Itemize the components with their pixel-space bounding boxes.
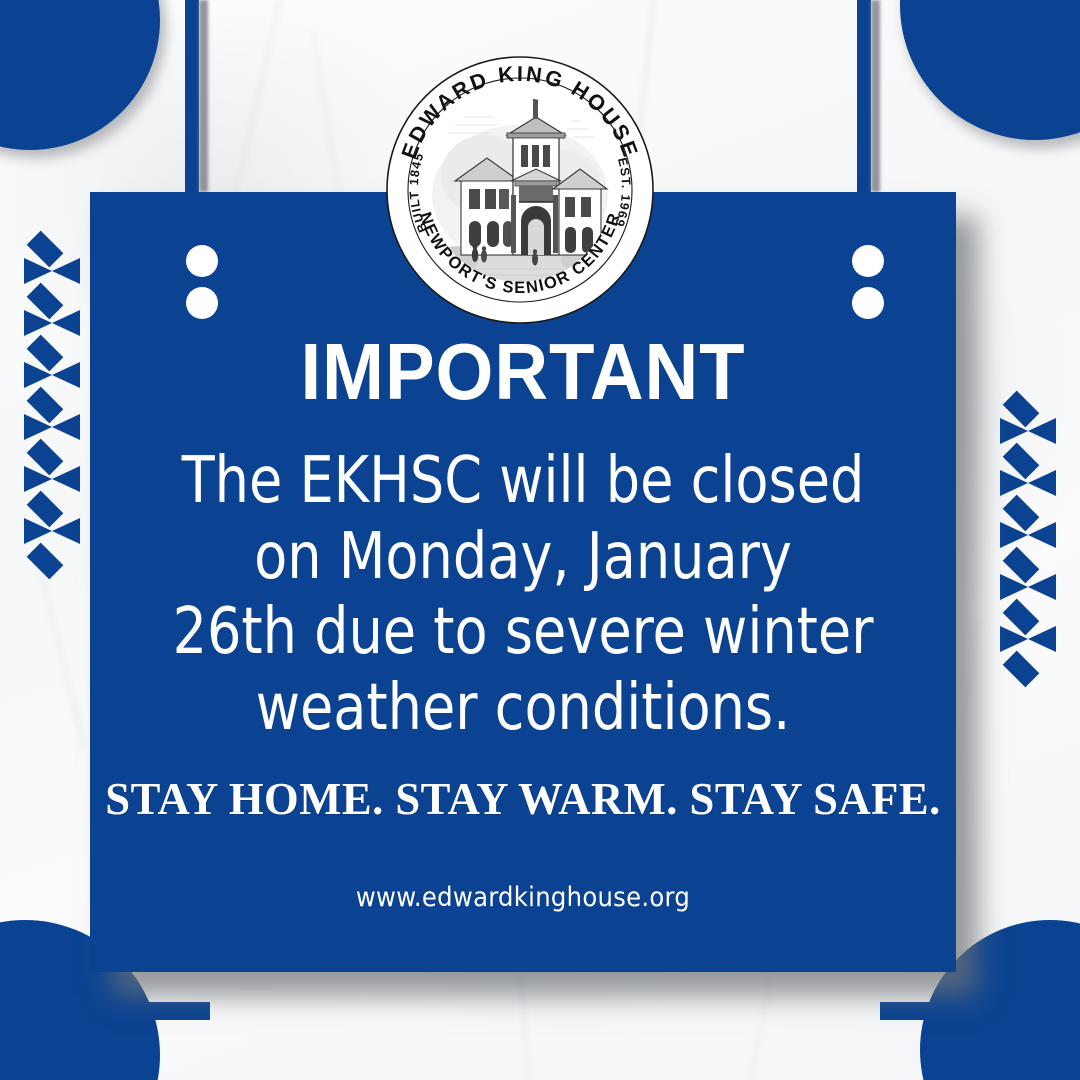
bowtie-triangle-left xyxy=(24,414,52,440)
bowtie-unit xyxy=(24,284,80,311)
bowtie-unit xyxy=(1000,496,1056,523)
closure-message: The EKHSC will be closed on Monday, Janu… xyxy=(116,444,930,746)
bowtie-triangle-left xyxy=(1000,574,1028,600)
bowtie-triangle-right xyxy=(1028,574,1056,600)
closure-message-line: weather conditions. xyxy=(148,671,898,747)
bowtie-unit xyxy=(1000,444,1056,471)
bowtie-unit xyxy=(1000,470,1056,497)
bowtie-triangle-left xyxy=(24,310,52,336)
bowtie-unit xyxy=(24,440,80,467)
bowtie-triangle-left xyxy=(1000,470,1028,496)
bowtie-unit xyxy=(1000,626,1056,653)
decorative-dot xyxy=(186,245,218,277)
closure-message-line: on Monday, January xyxy=(148,520,898,596)
bowtie-unit xyxy=(24,466,80,493)
bowtie-triangle-right xyxy=(52,466,80,492)
decorative-dot xyxy=(852,245,884,277)
bowtie-triangle-right xyxy=(52,414,80,440)
background-bar-left xyxy=(185,0,199,192)
corner-circle-top-left xyxy=(0,0,160,150)
bowtie-unit xyxy=(24,232,80,259)
bowtie-unit xyxy=(1000,392,1056,419)
website-url[interactable]: www.edwardkinghouse.org xyxy=(90,882,956,913)
bowtie-unit xyxy=(1000,522,1056,549)
bowtie-triangle-right xyxy=(1028,470,1056,496)
bowtie-triangle-right xyxy=(52,258,80,284)
bowtie-triangle-left xyxy=(24,362,52,388)
decorative-dot xyxy=(852,287,884,319)
bowtie-triangle-left xyxy=(24,518,52,544)
decorative-dot xyxy=(186,287,218,319)
bowtie-unit xyxy=(24,310,80,337)
bowtie-triangle-right xyxy=(1028,522,1056,548)
background-bar-right xyxy=(857,0,871,192)
bowtie-unit xyxy=(1000,652,1056,679)
bowtie-triangle-right xyxy=(52,310,80,336)
marble-vein xyxy=(37,562,86,747)
bowtie-triangle-right xyxy=(1028,418,1056,444)
bowtie-unit xyxy=(24,414,80,441)
bowtie-triangle-left xyxy=(1000,522,1028,548)
bowtie-ornament-left xyxy=(24,232,80,570)
marble-vein xyxy=(749,961,774,1080)
bowtie-unit xyxy=(24,544,80,571)
bowtie-unit xyxy=(1000,548,1056,575)
background-bar-bottom-right xyxy=(880,1002,1080,1020)
bowtie-triangle-right xyxy=(52,362,80,388)
closure-message-line: 26th due to severe winter xyxy=(148,595,898,671)
bowtie-unit xyxy=(24,336,80,363)
bowtie-unit xyxy=(24,362,80,389)
bowtie-unit xyxy=(24,258,80,285)
corner-circle-top-right xyxy=(900,0,1080,140)
bowtie-triangle-left xyxy=(24,466,52,492)
bowtie-unit xyxy=(24,518,80,545)
closure-message-line: The EKHSC will be closed xyxy=(148,444,898,520)
bowtie-unit xyxy=(1000,574,1056,601)
bowtie-diamond xyxy=(27,543,64,580)
safety-tagline: STAY HOME. STAY WARM. STAY SAFE. xyxy=(103,772,943,825)
bowtie-diamond xyxy=(1003,651,1040,688)
bowtie-triangle-right xyxy=(1028,626,1056,652)
bowtie-unit xyxy=(1000,600,1056,627)
bowtie-triangle-left xyxy=(1000,418,1028,444)
edward-king-house-seal-logo: EDWARD KING HOUSE NEWPORT'S SENIOR CENTE… xyxy=(385,55,655,325)
bowtie-unit xyxy=(1000,418,1056,445)
announcement-poster: IMPORTANT The EKHSC will be closed on Mo… xyxy=(0,0,1080,1080)
bowtie-triangle-left xyxy=(24,258,52,284)
bowtie-triangle-left xyxy=(1000,626,1028,652)
bowtie-unit xyxy=(24,388,80,415)
background-bar-bottom-left xyxy=(0,1002,210,1020)
bowtie-triangle-right xyxy=(52,518,80,544)
headline-important: IMPORTANT xyxy=(120,332,925,412)
bowtie-ornament-right xyxy=(1000,392,1056,678)
bowtie-unit xyxy=(24,492,80,519)
